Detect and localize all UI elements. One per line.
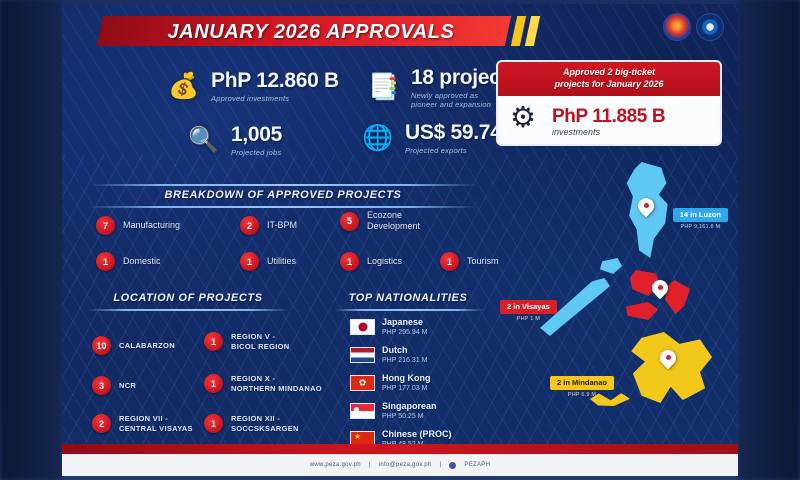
nationality-item-dutch: Dutch PHP 216.31 M	[350, 346, 427, 364]
footer-separator-2: |	[440, 462, 442, 468]
breakdown-rule-bottom	[88, 206, 478, 208]
nationality-name: Japanese	[382, 318, 427, 328]
hongkong-flag	[350, 375, 375, 391]
visayas-island-shape-3	[624, 302, 658, 320]
footer-contact-bar: www.peza.gov.ph | info@peza.gov.ph | PEZ…	[62, 454, 738, 476]
mindanao-callout: 2 in Mindanao PHP 6.9 M	[550, 372, 614, 398]
job-search-icon: 🔍	[186, 122, 222, 158]
footer-separator-1: |	[369, 462, 371, 468]
count-badge: 1	[440, 252, 459, 271]
item-label: NCR	[119, 381, 136, 391]
singapore-flag	[350, 403, 375, 419]
footer-website[interactable]: www.peza.gov.ph	[310, 462, 361, 468]
backdrop-right-edge	[738, 0, 800, 480]
footer-social-handle[interactable]: PEZAPH	[464, 462, 490, 468]
breakdown-item-tourism: 1 Tourism	[440, 252, 499, 271]
poster-footer: www.peza.gov.ph | info@peza.gov.ph | PEZ…	[62, 444, 738, 476]
item-label: REGION V - BICOL REGION	[231, 332, 289, 352]
breakdown-item-manufacturing: 7 Manufacturing	[96, 216, 180, 235]
item-label: REGION X - NORTHERN MINDANAO	[231, 374, 322, 394]
map-pin-visayas	[652, 280, 668, 302]
japan-flag	[350, 319, 375, 335]
mindoro-island-shape	[600, 258, 622, 274]
breakdown-rule-top	[88, 184, 478, 186]
count-badge: 1	[204, 374, 223, 393]
page-title: JANUARY 2026 APPROVALS	[116, 21, 506, 44]
location-title: LOCATION OF PROJECTS	[88, 292, 288, 304]
callout-value: PHP 6.9 M	[550, 392, 614, 398]
nationalities-title: TOP NATIONALITIES	[318, 292, 498, 304]
callout-label: 14 in Luzon	[673, 208, 728, 222]
callout-label: 2 in Mindanao	[550, 376, 614, 390]
breakdown-item-logistics: 1 Logistics	[340, 252, 402, 271]
visayas-callout: 2 in Visayas PHP 1 M	[500, 296, 557, 322]
footer-email[interactable]: info@peza.gov.ph	[379, 462, 432, 468]
bagong-pilipinas-logo	[696, 13, 724, 41]
nationality-amount: PHP 295.94 M	[382, 329, 427, 336]
item-label: Manufacturing	[123, 220, 180, 231]
item-label: Ecozone Development	[367, 210, 420, 233]
map-pin-mindanao	[660, 350, 676, 372]
count-badge: 1	[340, 252, 359, 271]
documents-icon: 📑	[366, 70, 402, 106]
location-item-calabarzon: 10 CALABARZON	[92, 336, 175, 355]
nationality-item-hong-kong: Hong Kong PHP 177.03 M	[350, 374, 431, 392]
location-item-ncr: 3 NCR	[92, 376, 136, 395]
callout-label: 2 in Visayas	[500, 300, 557, 314]
nationality-item-japanese: Japanese PHP 295.94 M	[350, 318, 427, 336]
big-ticket-caption: investments	[552, 127, 665, 137]
key-statistics: 💰 PhP 12.860 B Approved investments 📑 18…	[90, 60, 490, 170]
luzon-callout: 14 in Luzon PHP 9,161.8 M	[673, 204, 728, 230]
item-label: Tourism	[467, 256, 499, 267]
nationality-name: Hong Kong	[382, 374, 431, 384]
location-item-region-x-northern-mindanao: 1 REGION X - NORTHERN MINDANAO	[204, 374, 322, 394]
count-badge: 1	[96, 252, 115, 271]
location-item-region-vii-central-visayas: 2 REGION VII - CENTRAL VISAYAS	[92, 414, 193, 434]
nationality-name: Singaporean	[382, 402, 437, 412]
count-badge: 1	[240, 252, 259, 271]
count-badge: 3	[92, 376, 111, 395]
nationality-amount: PHP 50.25 M	[382, 413, 437, 420]
item-label: REGION VII - CENTRAL VISAYAS	[119, 414, 193, 434]
count-badge: 5	[340, 212, 359, 231]
location-item-region-xii-soccsksargen: 1 REGION XII - SOCCSKSARGEN	[204, 414, 299, 434]
header-accent-slash-2	[525, 16, 540, 46]
count-badge: 10	[92, 336, 111, 355]
facebook-icon[interactable]	[449, 462, 456, 469]
peza-logo	[663, 13, 691, 41]
money-bag-icon: 💰	[166, 68, 202, 104]
count-badge: 2	[240, 216, 259, 235]
big-ticket-heading: Approved 2 big-ticket projects for Janua…	[498, 62, 720, 96]
breakdown-item-utilities: 1 Utilities	[240, 252, 296, 271]
item-label: Utilities	[267, 256, 296, 267]
infographic-poster: JANUARY 2026 APPROVALS 💰 PhP 12.860 B Ap…	[62, 4, 738, 476]
nationality-amount: PHP 177.03 M	[382, 385, 431, 392]
nationalities-rule	[334, 309, 484, 311]
stat-caption: Projected jobs	[231, 148, 282, 157]
count-badge: 7	[96, 216, 115, 235]
netherlands-flag	[350, 347, 375, 363]
nationality-item-singaporean: Singaporean PHP 50.25 M	[350, 402, 437, 420]
item-label: Domestic	[123, 256, 161, 267]
nationality-name: Chinese (PROC)	[382, 430, 452, 440]
stat-caption: Projected exports	[405, 146, 524, 155]
big-ticket-body: ⚙ PhP 11.885 B investments	[498, 96, 720, 146]
nationality-amount: PHP 216.31 M	[382, 357, 427, 364]
item-label: Logistics	[367, 256, 402, 267]
philippines-map: 14 in Luzon PHP 9,161.8 M 2 in Visayas P…	[534, 154, 734, 454]
big-ticket-amount: PhP 11.885 B	[552, 106, 665, 128]
stat-value: 1,005	[231, 123, 282, 147]
breakdown-item-ecozone-development: 5 Ecozone Development	[340, 210, 420, 233]
item-label: IT-BPM	[267, 220, 297, 231]
gear-handshake-icon: ⚙	[510, 104, 544, 138]
globe-export-icon: 🌐	[360, 120, 396, 156]
stat-caption: Approved investments	[211, 94, 339, 103]
poster-header: JANUARY 2026 APPROVALS	[62, 4, 738, 56]
breakdown-item-it-bpm: 2 IT-BPM	[240, 216, 297, 235]
location-rule	[88, 309, 288, 311]
stat-projected-jobs: 🔍 1,005 Projected jobs	[186, 122, 282, 158]
breakdown-title: BREAKDOWN OF APPROVED PROJECTS	[88, 189, 478, 201]
count-badge: 1	[204, 332, 223, 351]
big-ticket-card: Approved 2 big-ticket projects for Janua…	[496, 60, 722, 146]
item-label: CALABARZON	[119, 341, 175, 351]
footer-red-bar	[62, 444, 738, 454]
item-label: REGION XII - SOCCSKSARGEN	[231, 414, 299, 434]
callout-value: PHP 1 M	[500, 316, 557, 322]
count-badge: 1	[204, 414, 223, 433]
header-accent-slash-1	[511, 16, 526, 46]
count-badge: 2	[92, 414, 111, 433]
nationality-name: Dutch	[382, 346, 427, 356]
callout-value: PHP 9,161.8 M	[673, 224, 728, 230]
stat-value: PhP 12.860 B	[211, 69, 339, 93]
location-item-region-v-bicol: 1 REGION V - BICOL REGION	[204, 332, 289, 352]
stat-approved-investments: 💰 PhP 12.860 B Approved investments	[166, 68, 339, 104]
backdrop-left-edge	[0, 0, 62, 480]
map-pin-luzon	[638, 198, 654, 220]
breakdown-item-domestic: 1 Domestic	[96, 252, 161, 271]
